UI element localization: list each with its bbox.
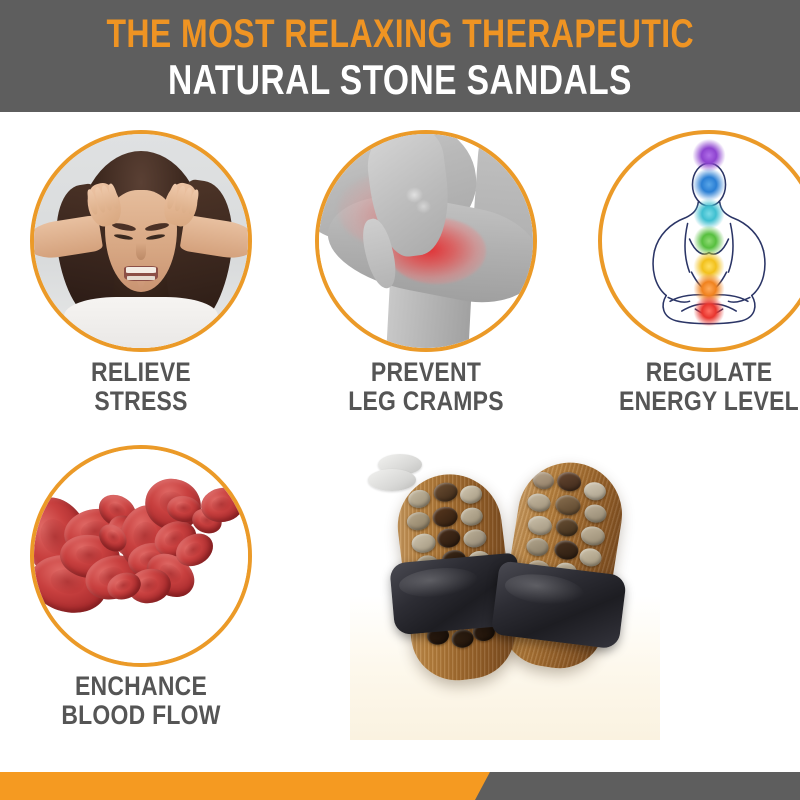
footer-bar-gray-segment [475, 772, 800, 800]
sandal-strap-right [491, 560, 627, 649]
benefit-label-regulate-energy-level: REGULATE ENERGY LEVEL [608, 358, 800, 416]
strap-highlight [503, 570, 585, 609]
benefit-label-prevent-leg-cramps: PREVENT LEG CRAMPS [332, 358, 521, 416]
page-title-primary: THE MOST RELAXING THERAPEUTIC [106, 12, 694, 56]
chakra-orb-crown [692, 139, 725, 172]
upper-teeth-icon [126, 267, 156, 274]
strap-highlight [398, 565, 480, 601]
benefit-image-clip-regulate-energy-level [602, 134, 800, 348]
product-photo-stone-sandals [350, 440, 660, 740]
meditating-figure-icon [602, 134, 800, 348]
chakra-orb-root [693, 295, 724, 326]
page-title-secondary: NATURAL STONE SANDALS [168, 57, 632, 103]
benefit-label-relieve-stress: RELIEVE STRESS [47, 358, 236, 416]
benefit-image-clip-enchance-blood-flow [34, 449, 248, 663]
benefit-label-enchance-blood-flow: ENCHANCE BLOOD FLOW [47, 672, 236, 730]
chakra-orb-third-eye [692, 168, 725, 201]
red-blood-cells-photo [34, 449, 248, 663]
infographic-page: THE MOST RELAXING THERAPEUTIC NATURAL ST… [0, 0, 800, 800]
benefit-image-clip-relieve-stress [34, 134, 248, 348]
header-banner: THE MOST RELAXING THERAPEUTIC NATURAL ST… [0, 0, 800, 112]
benefit-circle-relieve-stress [30, 130, 252, 352]
mouth-grimace-icon [124, 266, 158, 281]
leg-cramp-photo [319, 134, 533, 348]
chakra-orb-throat [693, 198, 724, 229]
benefit-circle-regulate-energy-level [598, 130, 800, 352]
footer-bar-orange-segment [0, 772, 505, 800]
white-shirt-icon [64, 297, 218, 348]
benefit-circle-prevent-leg-cramps [315, 130, 537, 352]
lower-teeth-icon [127, 276, 154, 280]
benefit-circle-enchance-blood-flow [30, 445, 252, 667]
footer-bar [0, 772, 800, 800]
benefit-image-clip-prevent-leg-cramps [319, 134, 533, 348]
stress-woman-photo [34, 134, 248, 348]
